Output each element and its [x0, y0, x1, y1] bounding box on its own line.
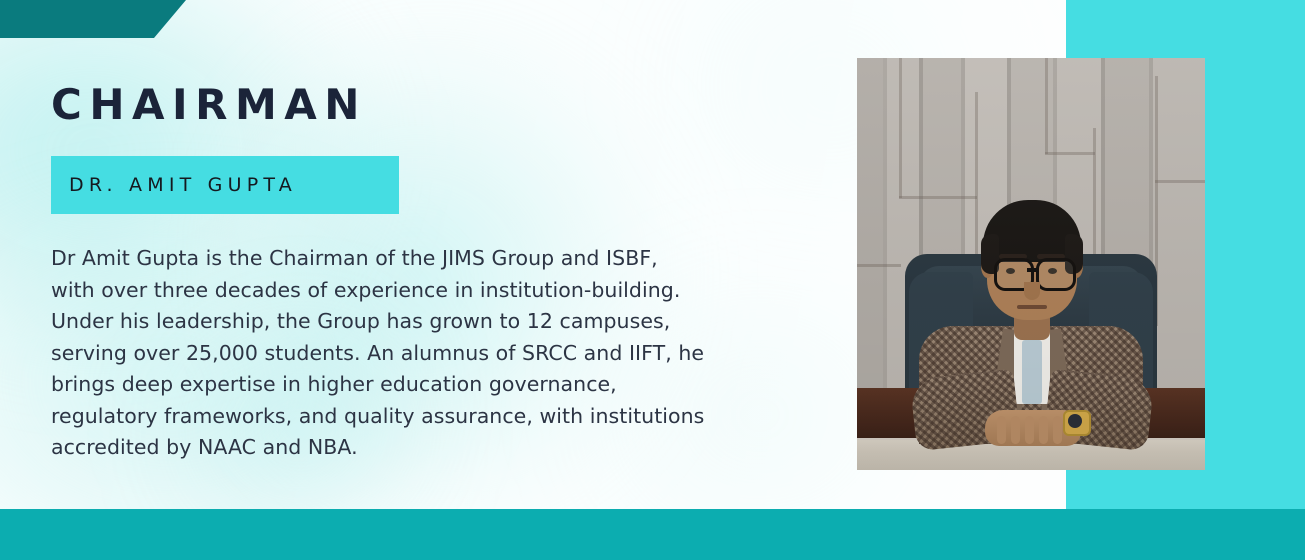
- portrait-illustration: [857, 58, 1205, 470]
- wall-seam: [899, 196, 977, 199]
- eyeglasses-bridge: [1027, 268, 1039, 272]
- bottom-teal-bar: [0, 509, 1305, 560]
- page-title: CHAIRMAN: [51, 84, 811, 126]
- finger: [997, 416, 1006, 444]
- chairman-portrait-photo: [857, 58, 1205, 470]
- eyeglasses-lens-right: [1036, 258, 1076, 291]
- finger: [1053, 416, 1062, 444]
- wall-seam: [1045, 152, 1095, 155]
- nose: [1024, 282, 1040, 300]
- wall-seam: [899, 58, 902, 198]
- necktie: [1022, 340, 1042, 404]
- biography-paragraph: Dr Amit Gupta is the Chairman of the JIM…: [51, 243, 763, 464]
- finger: [1025, 416, 1034, 444]
- wall-seam: [1045, 58, 1048, 154]
- name-badge-label: DR. AMIT GUPTA: [51, 174, 297, 196]
- wristwatch-face: [1068, 414, 1082, 428]
- chairman-profile-slide: CHAIRMAN DR. AMIT GUPTA Dr Amit Gupta is…: [0, 0, 1305, 560]
- wall-seam: [857, 264, 901, 267]
- wall-seam: [1155, 180, 1205, 183]
- text-content-column: CHAIRMAN DR. AMIT GUPTA Dr Amit Gupta is…: [51, 84, 811, 464]
- top-left-corner-flag: [0, 0, 186, 38]
- finger: [1011, 416, 1020, 444]
- name-badge: DR. AMIT GUPTA: [51, 156, 399, 214]
- finger: [1039, 416, 1048, 444]
- mouth: [1017, 305, 1047, 309]
